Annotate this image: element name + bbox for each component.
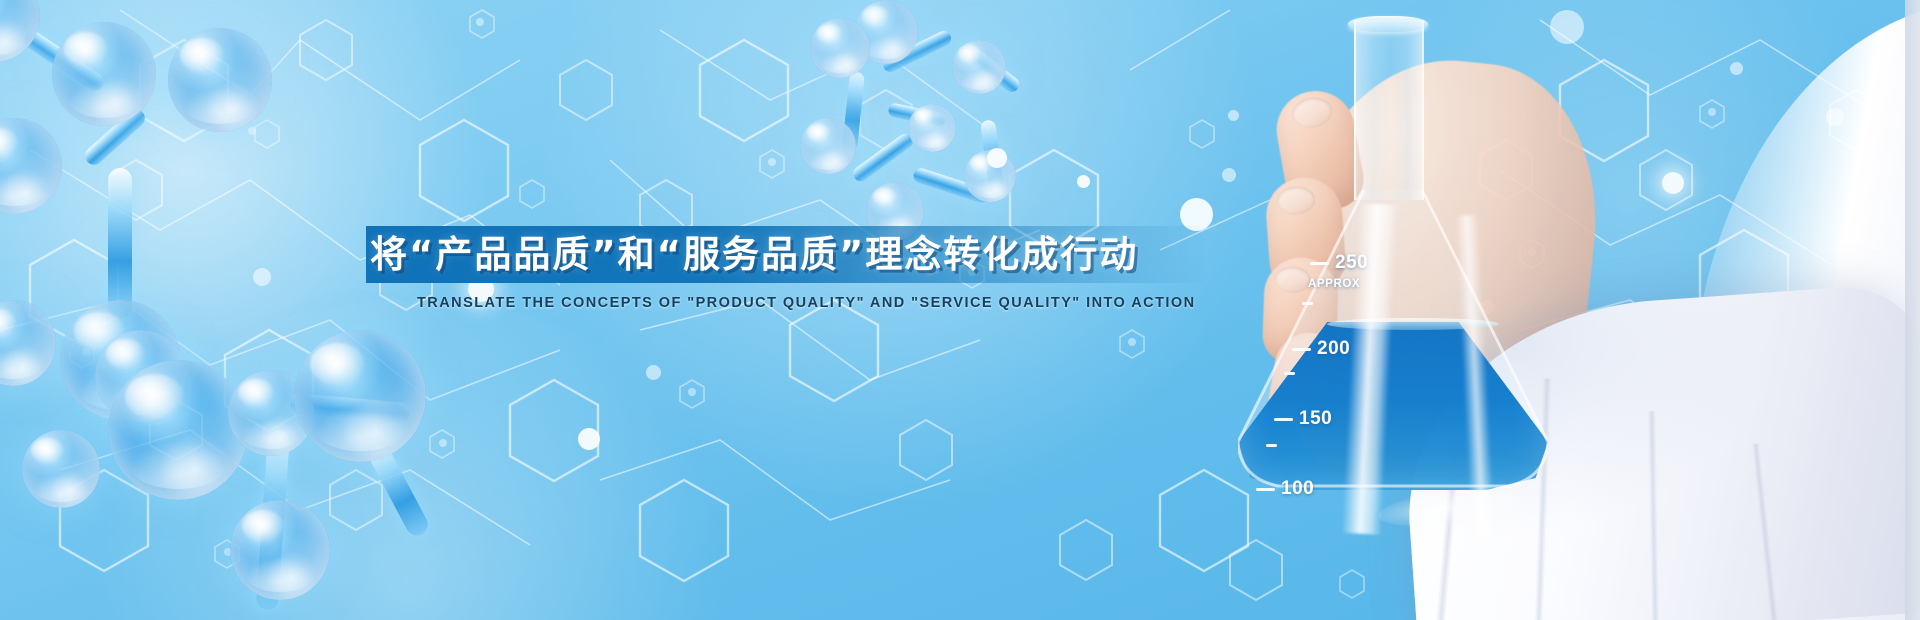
hero-banner: 250 APPROX 200 150 100 将“产品品质 [0,0,1920,620]
page-subtitle: TRANSLATE THE CONCEPTS OF "PRODUCT QUALI… [417,295,1196,311]
image-edge-strip [1905,0,1920,620]
banner-copy: 将“产品品质”和“服务品质”理念转化成行动 TRANSLATE THE CONC… [0,0,1920,620]
page-title: 将“产品品质”和“服务品质”理念转化成行动 [370,231,1230,279]
